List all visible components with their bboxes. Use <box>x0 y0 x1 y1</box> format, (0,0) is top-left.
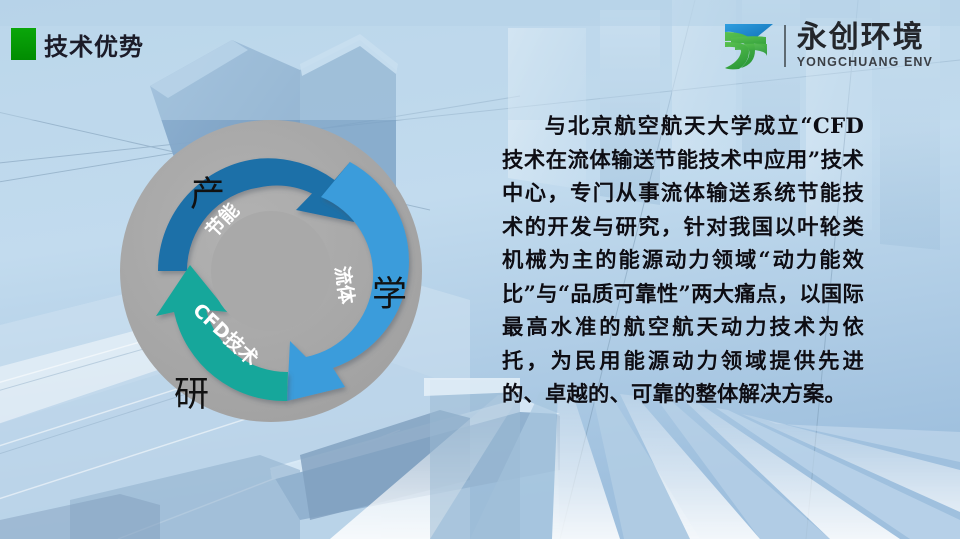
logo-name-cn: 永创环境 <box>797 23 933 54</box>
slide: 技术优势 <box>0 0 960 539</box>
company-logo: 永创环境 YONGCHUANG ENV <box>721 18 933 74</box>
yongchuang-swoosh-icon <box>721 20 777 72</box>
cycle-outer-label-xue: 学 <box>372 275 407 315</box>
logo-wordmark: 永创环境 YONGCHUANG ENV <box>797 23 933 69</box>
body-paragraph: 与北京航空航天大学成立“CFD技术在流体输送节能技术中应用”技术中心，专门从事流… <box>502 110 864 412</box>
logo-name-en: YONGCHUANG ENV <box>797 55 933 69</box>
logo-divider <box>784 25 786 67</box>
cycle-outer-label-yan: 研 <box>174 375 209 415</box>
title-green-marker <box>11 28 36 60</box>
cycle-diagram: 节能 流体 CFD技术 产 学 研 <box>118 118 424 424</box>
page-title: 技术优势 <box>44 27 144 62</box>
cycle-diagram-svg: 节能 流体 CFD技术 产 学 研 <box>118 118 424 424</box>
diagram-hub <box>211 211 331 331</box>
slide-header: 技术优势 <box>0 0 960 78</box>
cycle-outer-label-chan: 产 <box>190 175 225 215</box>
